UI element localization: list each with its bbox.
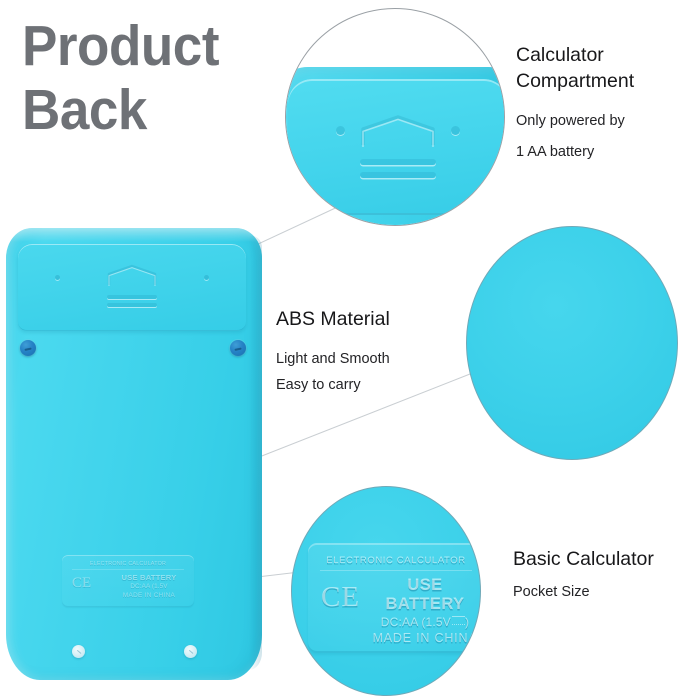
grip-ridge-2 — [107, 303, 157, 307]
callout-2-heading: ABS Material — [276, 306, 390, 332]
callout-1-spacer — [516, 94, 634, 106]
door-dot-left-icon — [55, 275, 60, 280]
callout-3-sub-1: Pocket Size — [513, 578, 654, 606]
battery-door-grip — [107, 264, 157, 307]
magnified-label-line-2-text: DC:AA (1.5V — [381, 615, 451, 629]
battery-compartment-door — [18, 244, 246, 331]
magnified-label-title: ELECTRONIC CALCULATOR — [320, 555, 472, 571]
rubber-foot-right — [184, 645, 197, 658]
magnified-arrow-house-icon — [360, 114, 436, 147]
callout-2-spacer — [276, 332, 390, 346]
magnified-ce-mark-icon: CE — [321, 583, 360, 612]
callout-calculator-compartment: Calculator Compartment Only powered by 1… — [516, 42, 634, 168]
magnified-label-lines: USE BATTERY DC:AA (1.5V) MADE IN CHINA — [370, 576, 480, 647]
magnifier-embossed-label: ELECTRONIC CALCULATOR CE USE BATTERY DC:… — [291, 486, 481, 696]
label-plate-lines: USE BATTERY DC:AA (1.5V MADE IN CHINA — [108, 573, 190, 600]
calculator-back-view: ELECTRONIC CALCULATOR CE USE BATTERY DC:… — [6, 228, 262, 680]
magnifier-abs-surface — [466, 226, 678, 460]
ce-mark-icon: CE — [72, 576, 91, 591]
magnified-label-line-3: MADE IN CHINA — [370, 630, 480, 647]
screw-top-right — [230, 340, 246, 356]
label-plate-line-3: MADE IN CHINA — [108, 591, 190, 600]
callout-2-sub-2: Easy to carry — [276, 372, 390, 398]
page-title-line-2: Back — [22, 78, 301, 142]
magnified-door-dot-left-icon — [336, 126, 345, 135]
callout-2-sub-1: Light and Smooth — [276, 346, 390, 372]
magnified-label-line-2: DC:AA (1.5V) — [370, 614, 480, 630]
magnified-door-dot-right-icon — [451, 126, 460, 135]
label-plate-line-1: USE BATTERY — [108, 573, 190, 582]
embossed-label-plate: ELECTRONIC CALCULATOR CE USE BATTERY DC:… — [62, 555, 194, 607]
callout-1-heading-line-2: Compartment — [516, 68, 634, 94]
page-title-line-1: Product — [22, 14, 301, 78]
magnified-battery-door-grip — [360, 114, 436, 178]
door-dot-right-icon — [204, 275, 209, 280]
callout-abs-material: ABS Material Light and Smooth Easy to ca… — [276, 306, 390, 398]
dc-voltage-symbol-icon — [452, 616, 465, 625]
callout-1-sub-1: Only powered by — [516, 106, 634, 137]
grip-ridge-1 — [107, 295, 157, 299]
screw-top-left — [20, 340, 36, 356]
magnified-grip-ridge-1 — [360, 159, 436, 165]
callout-1-sub-2: 1 AA battery — [516, 137, 634, 168]
calculator-right-edge-shadow — [249, 236, 262, 670]
product-back-infographic: Product Back ELECTRON — [0, 0, 679, 700]
label-plate-title: ELECTRONIC CALCULATOR — [72, 561, 184, 570]
callout-1-heading-line-1: Calculator — [516, 42, 634, 68]
callout-3-heading: Basic Calculator — [513, 546, 654, 572]
label-plate-line-2: DC:AA (1.5V — [108, 582, 190, 591]
rubber-foot-left — [72, 645, 85, 658]
arrow-house-icon — [107, 264, 157, 286]
magnified-label-line-2-suffix: ) — [465, 615, 469, 629]
magnified-grip-ridge-2 — [360, 172, 436, 178]
page-title: Product Back — [22, 14, 322, 142]
callout-basic-calculator: Basic Calculator Pocket Size — [513, 546, 654, 606]
calculator-top-edge-highlight — [6, 228, 262, 242]
magnified-label-plate: ELECTRONIC CALCULATOR CE USE BATTERY DC:… — [308, 543, 481, 653]
magnified-label-line-1: USE BATTERY — [370, 576, 480, 614]
